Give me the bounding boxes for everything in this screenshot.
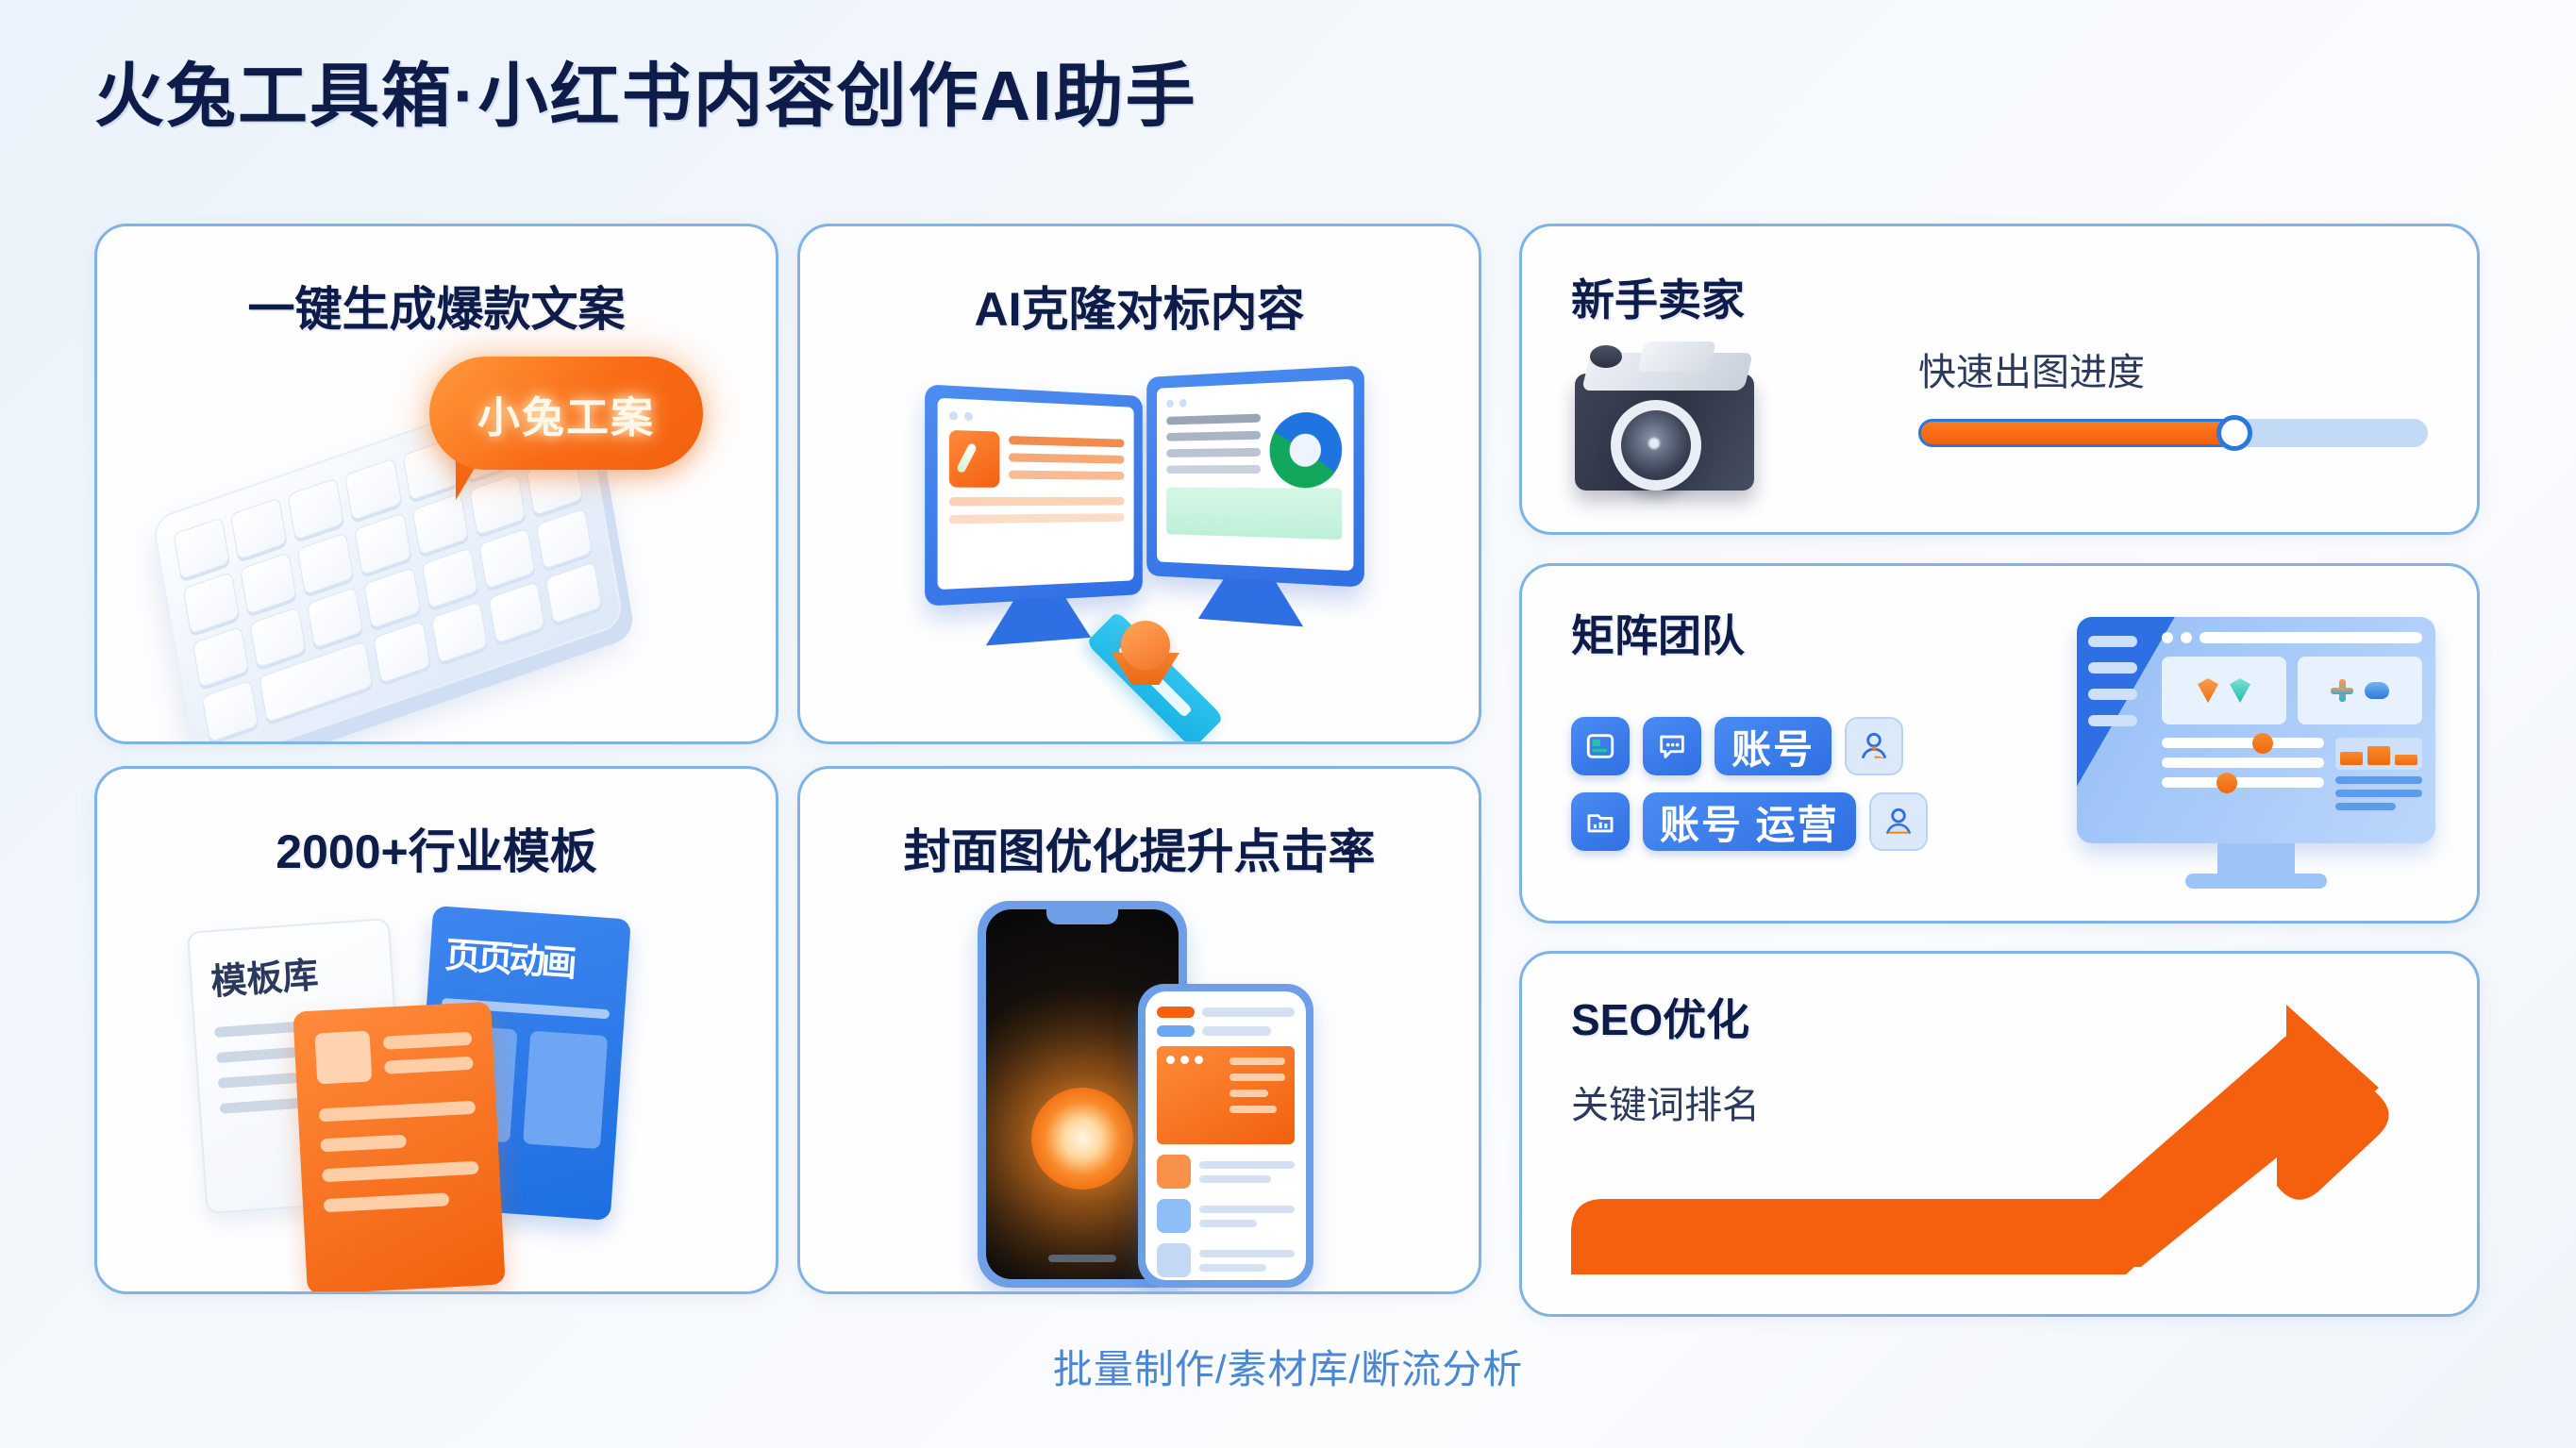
card-industry-templates[interactable]: 2000+行业模板 页页动画 模板库 bbox=[94, 766, 778, 1294]
bubble-label: 小兔工案 bbox=[477, 383, 655, 444]
badge-row: 账号 运营 bbox=[1571, 792, 1928, 851]
template-stack-illustration: 页页动画 模板库 bbox=[97, 901, 778, 1292]
card-title: AI克隆对标内容 bbox=[800, 272, 1479, 340]
growth-arrow-up-icon bbox=[1522, 954, 2480, 1317]
keyboard-illustration: 小兔工案 bbox=[97, 340, 778, 744]
card-title: 矩阵团队 bbox=[1571, 602, 1745, 664]
card-seo-optimization[interactable]: SEO优化 关键词排名 bbox=[1519, 951, 2480, 1317]
card-cover-optimization[interactable]: 封面图优化提升点击率 bbox=[797, 766, 1481, 1294]
document-card-icon[interactable] bbox=[1571, 717, 1630, 775]
dual-monitor-illustration bbox=[800, 358, 1481, 744]
card-title: 封面图优化提升点击率 bbox=[800, 814, 1479, 882]
speech-bubble: 小兔工案 bbox=[429, 357, 703, 470]
monitor-orange-content-icon bbox=[925, 384, 1143, 606]
account-tag[interactable]: 账号 bbox=[1715, 717, 1832, 775]
progress-slider-block[interactable]: 快速出图进度 bbox=[1918, 341, 2428, 447]
card-title: 新手卖家 bbox=[1571, 266, 1745, 328]
phone-content-feed-icon bbox=[1138, 984, 1313, 1288]
animation-label: 页页动画 bbox=[443, 925, 614, 989]
template-card-orange-icon bbox=[293, 1002, 505, 1294]
donut-chart-icon bbox=[1270, 411, 1343, 489]
user-avatar-icon[interactable] bbox=[1845, 717, 1903, 775]
matrix-badges: 账号 账号 运营 bbox=[1571, 717, 1928, 868]
user-avatar-icon[interactable] bbox=[1869, 792, 1928, 851]
card-title: 一键生成爆款文案 bbox=[97, 272, 776, 340]
footer-text: 批量制作/素材库/断流分析 bbox=[0, 1338, 2576, 1395]
monitor-chart-content-icon bbox=[1146, 365, 1364, 587]
card-new-seller[interactable]: 新手卖家 快速出图进度 bbox=[1519, 224, 2480, 535]
slider-fill bbox=[1918, 419, 2234, 447]
analytics-folder-icon[interactable] bbox=[1571, 792, 1630, 851]
camera-icon bbox=[1575, 349, 1764, 492]
card-ai-clone-content[interactable]: AI克隆对标内容 bbox=[797, 224, 1481, 744]
page-title: 火兔工具箱·小红书内容创作AI助手 bbox=[94, 40, 1197, 141]
slider-knob[interactable] bbox=[2216, 415, 2252, 451]
card-one-click-copywriting[interactable]: 一键生成爆款文案 小兔工案 bbox=[94, 224, 778, 744]
account-operations-tag[interactable]: 账号 运营 bbox=[1643, 792, 1856, 851]
monitor-dashboard-illustration bbox=[2077, 617, 2435, 890]
card-matrix-team[interactable]: 矩阵团队 账号 账号 运营 bbox=[1519, 563, 2480, 924]
location-pin-icon bbox=[1121, 621, 1170, 670]
chat-bubble-icon[interactable] bbox=[1643, 717, 1701, 775]
badge-row: 账号 bbox=[1571, 717, 1928, 775]
progress-slider[interactable] bbox=[1918, 419, 2428, 447]
phone-pair-illustration bbox=[800, 891, 1481, 1292]
card-title: 2000+行业模板 bbox=[97, 814, 776, 882]
progress-label: 快速出图进度 bbox=[1918, 341, 2428, 396]
template-library-label: 模板库 bbox=[209, 941, 373, 1005]
